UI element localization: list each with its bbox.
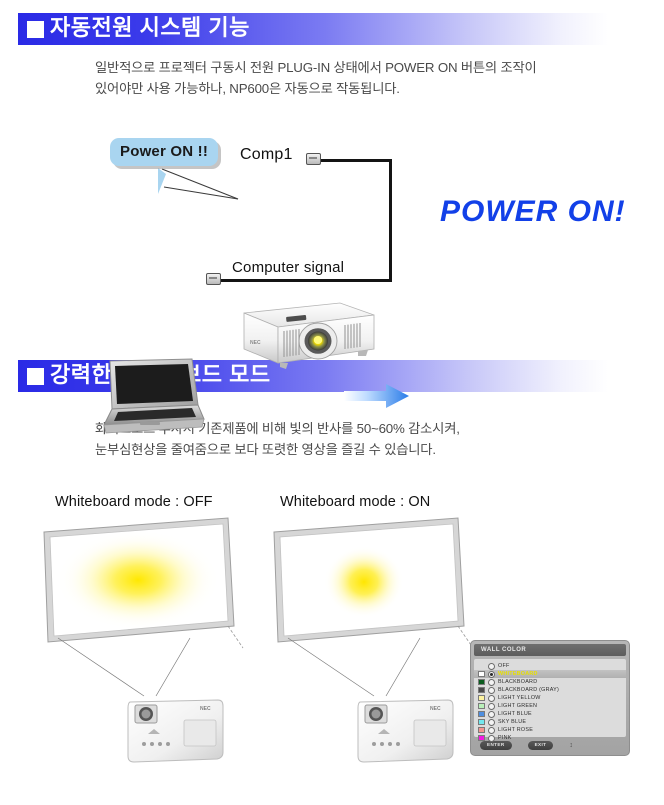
section-title-auto-power: 자동전원 시스템 기능 [50,17,250,41]
osd-radio-icon[interactable] [488,735,495,742]
osd-option-label: SKY BLUE [498,719,526,725]
computer-signal-arrow-icon [344,383,410,409]
osd-option-row[interactable]: LIGHT BLUE [474,710,626,718]
osd-color-swatch [478,687,485,693]
osd-option-list[interactable]: OFFWHITEBOARDBLACKBOARDBLACKBOARD (GRAY)… [474,659,626,737]
osd-color-swatch [478,671,485,677]
osd-radio-icon[interactable] [488,719,495,726]
osd-option-label: WHITEBOARD [498,671,538,677]
laptop-illustration [88,357,206,439]
osd-scroll-indicator-icon: ↕ [569,742,573,749]
osd-option-label: LIGHT ROSE [498,727,533,733]
section-body-auto-power: 일반적으로 프로젝터 구동시 전원 PLUG-IN 상태에서 POWER ON … [95,57,615,99]
osd-title: WALL COLOR [474,644,626,656]
osd-radio-icon[interactable] [488,711,495,718]
osd-option-row[interactable]: WHITEBOARD [474,670,626,678]
osd-option-row[interactable]: BLACKBOARD (GRAY) [474,686,626,694]
osd-option-row[interactable]: SKY BLUE [474,718,626,726]
connector-laptop-icon [206,273,221,285]
connector-projector-icon [306,153,321,165]
osd-color-swatch [478,703,485,709]
bubble-pointer-lines-icon [160,163,250,203]
osd-radio-icon[interactable] [488,703,495,710]
label-comp1: Comp1 [240,146,293,164]
svg-text:NEC: NEC [250,340,261,346]
osd-option-label: BLACKBOARD (GRAY) [498,687,559,693]
svg-text:NEC: NEC [200,706,211,712]
osd-radio-icon[interactable] [488,663,495,670]
projector-topdown-off: NEC [122,694,226,768]
osd-radio-icon[interactable] [488,687,495,694]
label-whiteboard-mode-on: Whiteboard mode : ON [280,494,430,510]
power-on-callout: POWER ON! [440,195,626,229]
projector-topdown-on: NEC [352,694,456,768]
osd-radio-icon[interactable] [488,695,495,702]
osd-option-row[interactable]: BLACKBOARD [474,678,626,686]
osd-option-label: LIGHT BLUE [498,711,532,717]
osd-option-label: BLACKBOARD [498,679,537,685]
osd-option-row[interactable]: LIGHT YELLOW [474,694,626,702]
osd-color-swatch [478,727,485,733]
osd-enter-button[interactable]: ENTER [480,741,512,750]
osd-color-swatch [478,711,485,717]
whiteboard-screen-off [38,516,268,651]
osd-footer: ENTER EXIT ↕ [474,740,626,751]
cable-top-horizontal [318,159,392,162]
power-on-speech-bubble: Power ON !! [110,138,218,166]
projection-beam-off-icon [52,636,202,702]
osd-color-swatch [478,719,485,725]
osd-radio-icon[interactable] [488,727,495,734]
label-computer-signal: Computer signal [232,259,344,276]
wall-color-osd-panel[interactable]: WALL COLOR OFFWHITEBOARDBLACKBOARDBLACKB… [470,640,630,756]
whiteboard-screen-on [268,516,498,651]
osd-option-label: LIGHT GREEN [498,703,537,709]
osd-color-swatch [478,679,485,685]
projector-illustration: NEC [228,297,376,375]
section-bullet-square-icon [27,21,44,38]
osd-option-label: OFF [498,663,510,669]
osd-option-label: PINK [498,735,512,741]
osd-color-swatch [478,695,485,701]
cable-bottom-horizontal [218,279,392,282]
section-bullet-square-icon-2 [27,368,44,385]
osd-radio-icon[interactable] [488,671,495,678]
osd-option-row[interactable]: LIGHT ROSE [474,726,626,734]
osd-option-row[interactable]: OFF [474,662,626,670]
osd-option-label: LIGHT YELLOW [498,695,541,701]
osd-exit-button[interactable]: EXIT [528,741,554,750]
osd-option-row[interactable]: LIGHT GREEN [474,702,626,710]
osd-color-swatch [478,663,485,669]
osd-color-swatch [478,735,485,741]
svg-text:NEC: NEC [430,706,441,712]
label-whiteboard-mode-off: Whiteboard mode : OFF [55,494,213,510]
osd-radio-icon[interactable] [488,679,495,686]
section-header-auto-power: 자동전원 시스템 기능 [18,13,608,45]
cable-right-vertical [389,159,392,282]
projection-beam-on-icon [282,636,432,702]
